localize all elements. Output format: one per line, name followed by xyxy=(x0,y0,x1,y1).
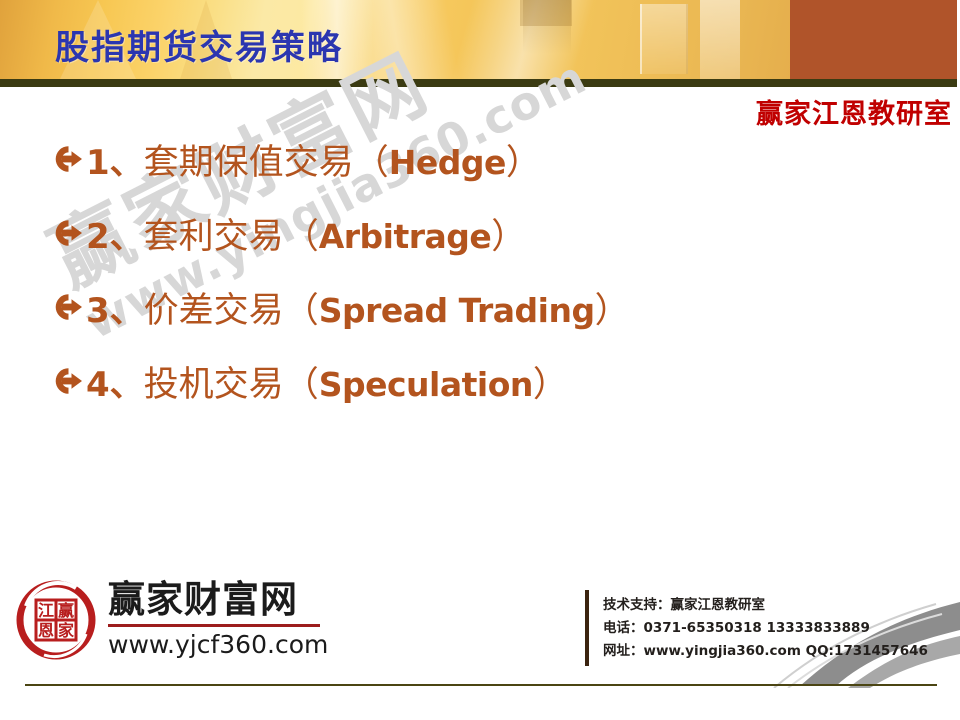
list-item-text: 4、投机交易（Speculation） xyxy=(86,356,568,407)
contact-info: 技术支持：赢家江恩教研室 电话：0371-65350318 1333383388… xyxy=(585,590,928,666)
list-item-open-paren: （ xyxy=(284,365,319,405)
seal-char-3: 恩 xyxy=(38,621,54,640)
list-item-cn: 价差交易 xyxy=(144,291,284,331)
brand-name: 赢家财富网 xyxy=(108,581,328,620)
list-item-en: Arbitrage xyxy=(319,217,492,256)
arrow-circle-right-bullet-icon xyxy=(52,143,84,175)
header-brown-block xyxy=(790,0,957,79)
list-item-number: 4、 xyxy=(86,365,144,405)
brand-url: www.yjcf360.com xyxy=(108,630,328,659)
seal-char-4: 家 xyxy=(58,621,75,640)
contact-support: 技术支持：赢家江恩教研室 xyxy=(603,594,928,617)
brand-divider xyxy=(108,624,320,627)
list-item-open-paren: （ xyxy=(354,143,389,183)
page-title: 股指期货交易策略 xyxy=(55,20,343,69)
slide-canvas: 股指期货交易策略 赢家江恩教研室 赢家财富网 www.yingjia360.co… xyxy=(0,0,960,720)
brand-logo: 江 赢 恩 家 赢家财富网 www.yjcf360.com xyxy=(14,578,328,662)
list-item-close-paren: ） xyxy=(491,217,526,257)
header-panel-shadow xyxy=(520,0,572,26)
list-item-close-paren: ） xyxy=(506,143,541,183)
list-item: 1、套期保值交易（Hedge） xyxy=(52,122,932,196)
seal-stamp-icon: 江 赢 恩 家 xyxy=(14,578,98,662)
bullet-list: 1、套期保值交易（Hedge） 2、套利交易（Arbitrage） 3、价差交易… xyxy=(52,122,932,418)
seal-char-2: 赢 xyxy=(58,601,74,620)
list-item-number: 1、 xyxy=(86,143,144,183)
list-item: 3、价差交易（Spread Trading） xyxy=(52,270,932,344)
list-item: 2、套利交易（Arbitrage） xyxy=(52,196,932,270)
list-item-number: 2、 xyxy=(86,217,144,257)
list-item-en: Speculation xyxy=(319,365,533,404)
list-item-open-paren: （ xyxy=(284,291,319,331)
seal-char-1: 江 xyxy=(38,601,54,620)
list-item-en: Hedge xyxy=(389,143,506,182)
list-item: 4、投机交易（Speculation） xyxy=(52,344,932,418)
contact-phone: 电话：0371-65350318 13333833889 xyxy=(603,617,928,640)
arrow-circle-right-bullet-icon xyxy=(52,365,84,397)
arrow-circle-right-bullet-icon xyxy=(52,217,84,249)
list-item-close-paren: ） xyxy=(533,365,568,405)
footer-rule xyxy=(25,684,937,686)
header-panel-door xyxy=(640,4,688,74)
list-item-cn: 投机交易 xyxy=(144,365,284,405)
contact-website: 网址：www.yingjia360.com QQ:1731457646 xyxy=(603,640,928,663)
list-item-text: 3、价差交易（Spread Trading） xyxy=(86,282,630,333)
list-item-close-paren: ） xyxy=(595,291,630,331)
list-item-text: 2、套利交易（Arbitrage） xyxy=(86,208,526,259)
brand-logo-text: 赢家财富网 www.yjcf360.com xyxy=(108,581,328,659)
arrow-circle-right-bullet-icon xyxy=(52,291,84,323)
header-panel-highlight xyxy=(700,0,740,79)
list-item-number: 3、 xyxy=(86,291,144,331)
list-item-open-paren: （ xyxy=(284,217,319,257)
list-item-en: Spread Trading xyxy=(319,291,595,330)
header-bottom-rule xyxy=(0,79,957,87)
list-item-cn: 套期保值交易 xyxy=(144,143,354,183)
list-item-text: 1、套期保值交易（Hedge） xyxy=(86,134,541,185)
list-item-cn: 套利交易 xyxy=(144,217,284,257)
